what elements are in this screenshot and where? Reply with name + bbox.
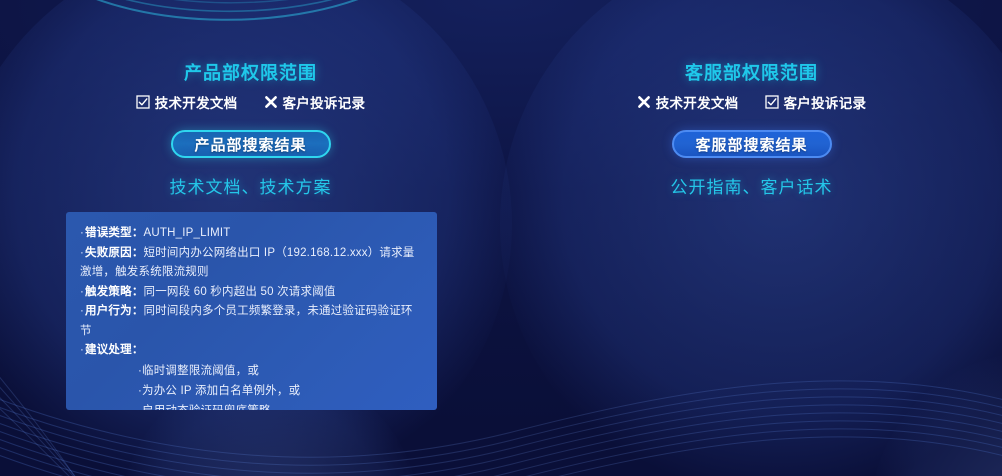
search-result-pill-service[interactable]: 客服部搜索结果 — [671, 130, 831, 158]
column-product-department: 产品部权限范围 技术开发文档 — [0, 0, 501, 476]
card-line: ·错误类型：AUTH_IP_LIMIT — [80, 224, 423, 244]
card-line: ·触发策略：同一网段 60 秒内超出 50 次请求阈值 — [80, 283, 423, 303]
columns-wrapper: 产品部权限范围 技术开发文档 — [0, 0, 1002, 476]
section-title-product: 产品部权限范围 — [0, 59, 501, 85]
permission-item-tech-doc: 技术开发文档 — [136, 92, 238, 112]
search-result-pill-product[interactable]: 产品部搜索结果 — [170, 130, 330, 158]
permission-row-product: 技术开发文档 客户投诉记录 — [0, 92, 501, 112]
card-line: ·建议处理： — [80, 341, 423, 361]
card-line-label: 触发策略： — [85, 286, 144, 298]
card-sub-line: ·启用动态验证码兜底策略 — [80, 401, 423, 411]
card-line-label: 错误类型： — [85, 227, 144, 239]
permission-item-complaint-record: 客户投诉记录 — [765, 92, 867, 112]
permission-label: 客户投诉记录 — [784, 92, 867, 112]
card-line-label: 失败原因： — [85, 247, 144, 259]
checkbox-checked-icon — [136, 95, 151, 110]
permission-item-tech-doc: 技术开发文档 — [637, 92, 739, 112]
card-line-text: AUTH_IP_LIMIT — [144, 227, 231, 239]
subtitle-service: 公开指南、客户话术 — [501, 173, 1002, 198]
permission-item-complaint-record: 客户投诉记录 — [264, 92, 366, 112]
card-line-label: 建议处理： — [85, 344, 144, 356]
subtitle-product: 技术文档、技术方案 — [0, 173, 501, 198]
cross-mark-icon — [264, 95, 279, 110]
card-line-text: 同一网段 60 秒内超出 50 次请求阈值 — [144, 286, 336, 298]
card-line: ·失败原因：短时间内办公网络出口 IP（192.168.12.xxx）请求量激增… — [80, 244, 423, 283]
column-service-department: 客服部权限范围 技术开发文档 — [501, 0, 1002, 476]
permission-label: 客户投诉记录 — [283, 92, 366, 112]
card-sub-line: ·临时调整限流阈值，或 — [80, 361, 423, 381]
slide-stage: 产品部权限范围 技术开发文档 — [0, 0, 1002, 476]
permission-label: 技术开发文档 — [155, 92, 238, 112]
card-sub-line: ·为办公 IP 添加白名单例外，或 — [80, 381, 423, 401]
section-title-service: 客服部权限范围 — [501, 59, 1002, 85]
permission-row-service: 技术开发文档 客户投诉记录 — [501, 92, 1002, 112]
cross-mark-icon — [637, 95, 652, 110]
checkbox-checked-icon — [765, 95, 780, 110]
card-line-label: 用户行为： — [85, 305, 144, 317]
card-line: ·用户行为：同时间段内多个员工频繁登录，未通过验证码验证环节 — [80, 302, 423, 341]
result-card-product: ·错误类型：AUTH_IP_LIMIT ·失败原因：短时间内办公网络出口 IP（… — [66, 212, 437, 410]
permission-label: 技术开发文档 — [656, 92, 739, 112]
